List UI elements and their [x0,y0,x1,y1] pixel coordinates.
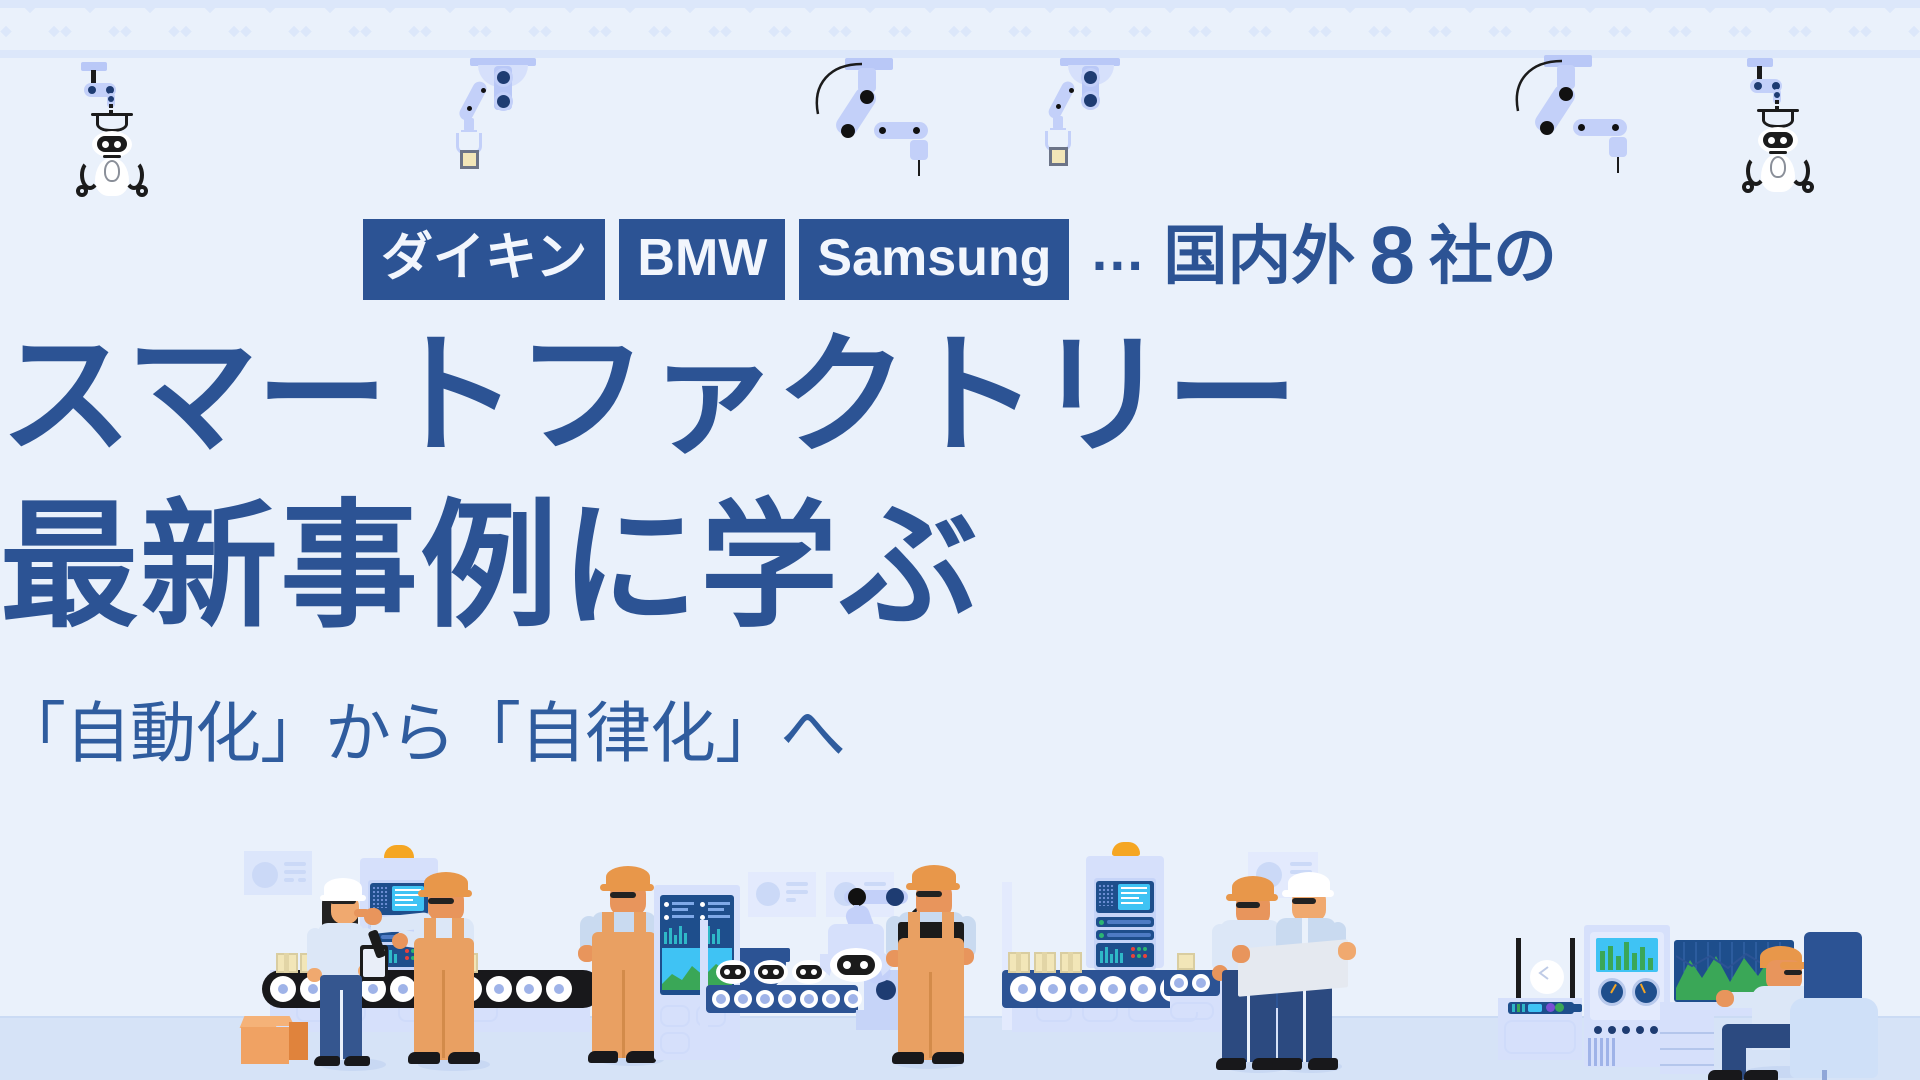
tagline-company-count: 8 [1369,215,1415,303]
hero-banner: ダイキン BMW Samsung … 国内外 8 社の スマートファクトリー 最… [0,0,1920,1080]
headline-line-2: 最新事例に学ぶ [0,498,1920,636]
brand-badge-daikin: ダイキン [363,219,605,300]
brand-badge-samsung: Samsung [799,219,1069,300]
subtitle: 「自動化」から「自律化」へ [0,700,1920,766]
tagline-prefix: 国内外 [1163,224,1355,294]
tagline-row: ダイキン BMW Samsung … 国内外 8 社の [0,215,1920,303]
tagline-ellipsis: … [1083,223,1149,295]
tagline-suffix: 社の [1429,224,1557,294]
sensor-icon [1534,965,1556,981]
factory-scene [0,820,1920,1080]
ceiling-truss [0,0,1920,58]
blueprint [1238,939,1348,997]
brand-badge-bmw: BMW [619,219,785,300]
headline-line-1: スマートファクトリー [0,330,1920,462]
